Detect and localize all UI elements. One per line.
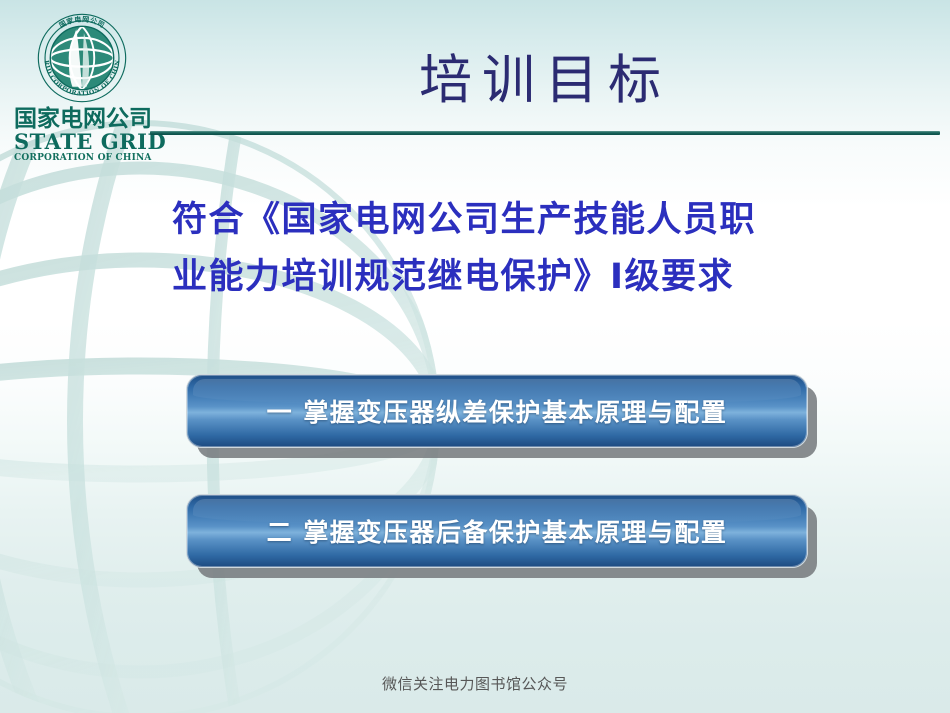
objective-button-2[interactable]: 二 掌握变压器后备保护基本原理与配置 <box>186 494 808 568</box>
objective-button-1[interactable]: 一 掌握变压器纵差保护基本原理与配置 <box>186 374 808 448</box>
footer-note: 微信关注电力图书馆公众号 <box>0 673 950 694</box>
headline-line-2: 业能力培训规范继电保护》Ⅰ级要求 <box>172 249 872 306</box>
logo-chinese-name: 国家电网公司 <box>14 107 150 131</box>
title-divider <box>150 131 940 135</box>
state-grid-logo: 国家电网公司 GRID CORPORATION OF CHINA 国家电网公司 … <box>14 10 150 165</box>
state-grid-globe-emblem: 国家电网公司 GRID CORPORATION OF CHINA <box>34 10 130 106</box>
page-title: 培训目标 <box>150 52 940 110</box>
headline-line-1: 符合《国家电网公司生产技能人员职 <box>172 192 872 249</box>
objective-label-1: 一 掌握变压器纵差保护基本原理与配置 <box>267 393 728 429</box>
logo-english-subtitle: CORPORATION OF CHINA <box>14 153 150 165</box>
logo-english-name: STATE GRID <box>14 131 150 153</box>
headline-text: 符合《国家电网公司生产技能人员职 业能力培训规范继电保护》Ⅰ级要求 <box>172 192 872 305</box>
objective-label-2: 二 掌握变压器后备保护基本原理与配置 <box>267 513 728 549</box>
presentation-slide: 国家电网公司 GRID CORPORATION OF CHINA 国家电网公司 … <box>0 0 950 713</box>
